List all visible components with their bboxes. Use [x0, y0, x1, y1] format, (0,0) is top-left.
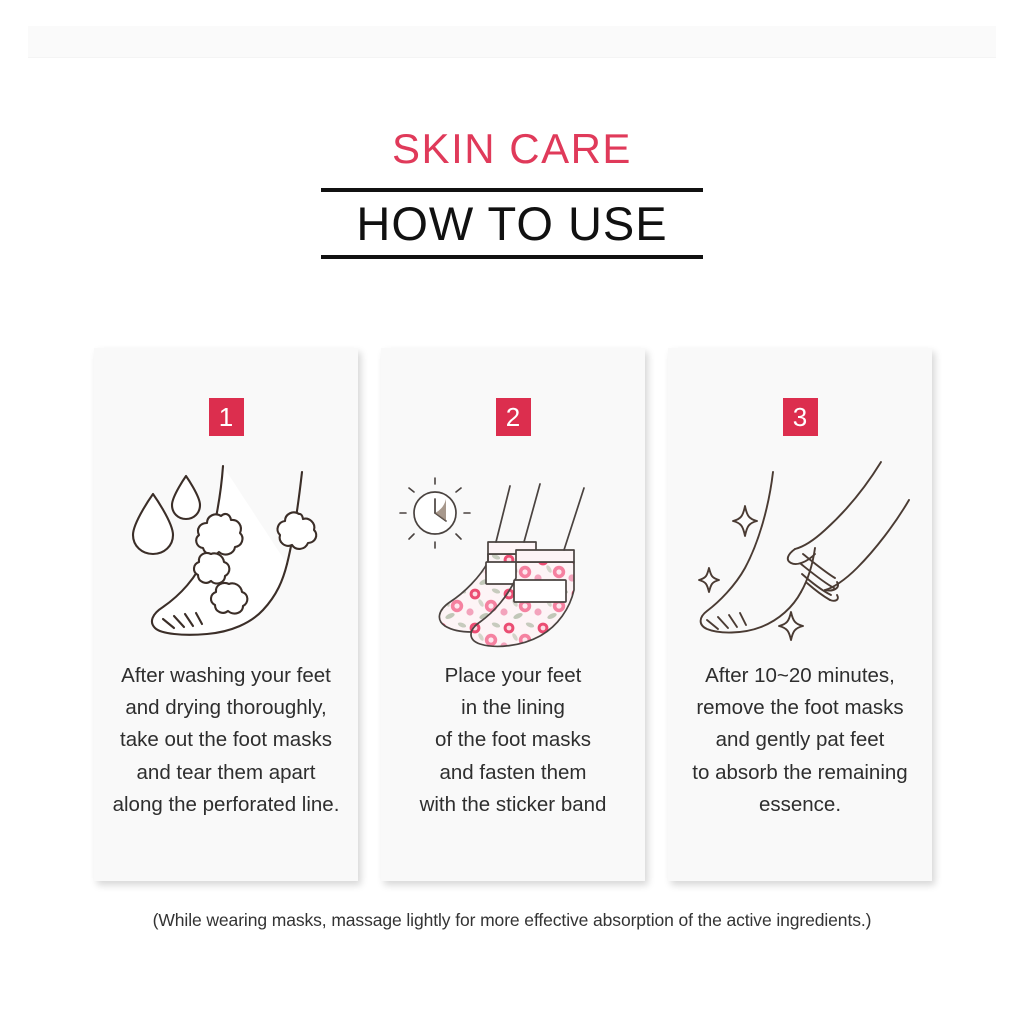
- foam-washed-foot-with-water-drops-icon: [106, 450, 346, 650]
- step-number-badge-2: 2: [496, 398, 531, 436]
- step-card-3: 3: [668, 348, 932, 881]
- floral-foot-mask-socks-with-clock-icon: [393, 450, 633, 650]
- step-caption-2: Place your feet in the lining of the foo…: [387, 660, 639, 821]
- eyebrow-title: SKIN CARE: [0, 128, 1024, 170]
- steps-container: 1: [94, 348, 932, 881]
- step-card-1: 1: [94, 348, 358, 881]
- step-caption-3: After 10~20 minutes, remove the foot mas…: [674, 660, 926, 821]
- step-card-2: 2: [381, 348, 645, 881]
- footer-note: (While wearing masks, massage lightly fo…: [0, 910, 1024, 931]
- page-title: HOW TO USE: [321, 198, 703, 251]
- step-caption-1: After washing your feet and drying thoro…: [100, 660, 352, 821]
- title-rule-frame: HOW TO USE: [321, 188, 703, 259]
- step-number-badge-1: 1: [209, 398, 244, 436]
- step-number-badge-3: 3: [783, 398, 818, 436]
- page-header: SKIN CARE HOW TO USE: [0, 128, 1024, 259]
- hand-patting-foot-with-sparkles-icon: [680, 450, 920, 650]
- top-decorative-band: [28, 26, 996, 58]
